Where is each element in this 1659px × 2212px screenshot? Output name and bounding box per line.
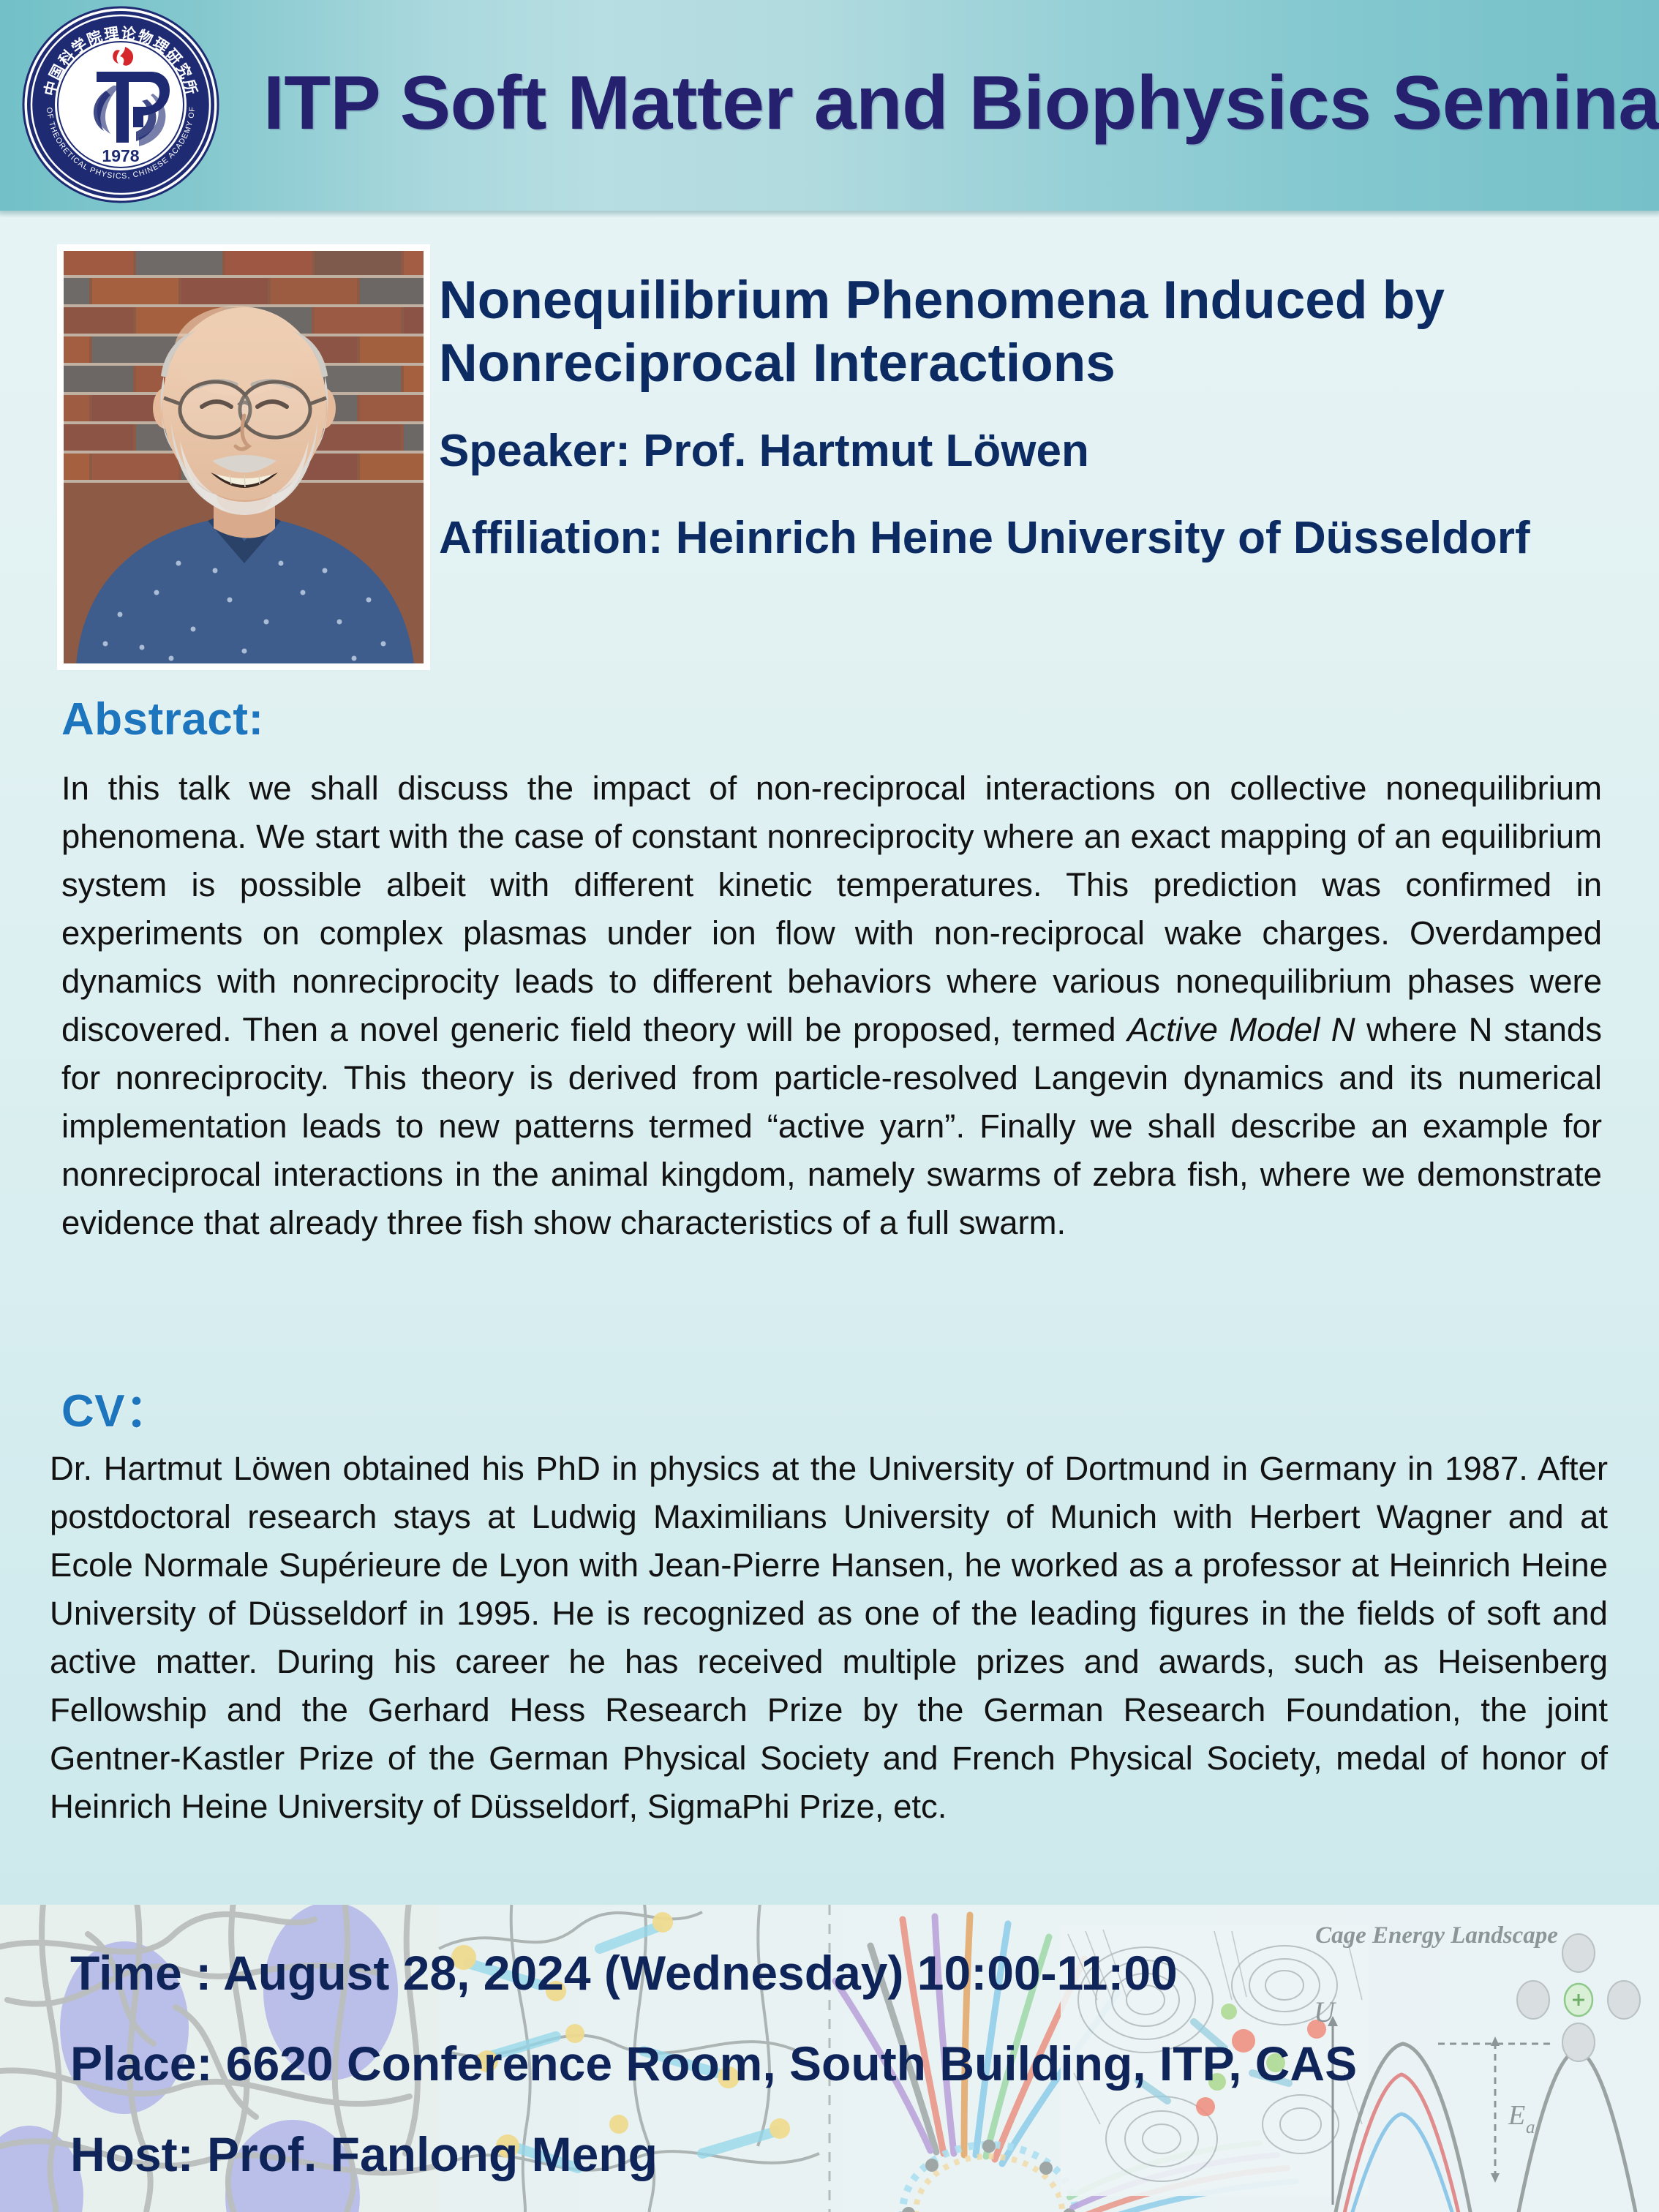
abstract-emphasis: Active Model N xyxy=(1127,1011,1355,1048)
poster-footer: Cage Energy Landscape U E a xyxy=(0,1905,1659,2212)
abstract-text-part1: In this talk we shall discuss the impact… xyxy=(61,770,1602,1048)
cage-energy-landscape-label: Cage Energy Landscape xyxy=(1315,1922,1558,1949)
time-line: Time : August 28, 2024 (Wednesday) 10:00… xyxy=(70,1949,1533,1997)
abstract-heading: Abstract: xyxy=(61,693,264,745)
speaker-name: Prof. Hartmut Löwen xyxy=(643,426,1089,476)
speaker-label: Speaker: xyxy=(439,426,631,476)
talk-title: Nonequilibrium Phenomena Induced by Nonr… xyxy=(439,269,1609,395)
itp-seal-logo: 中国科学院理论物理研究所 INSTITUTE OF THEORETICAL PH… xyxy=(20,4,221,205)
talk-info-block: Nonequilibrium Phenomena Induced by Nonr… xyxy=(439,269,1609,565)
affiliation-line: Affiliation: Heinrich Heine University o… xyxy=(439,511,1609,565)
host-line: Host: Prof. Fanlong Meng xyxy=(70,2130,1533,2178)
seminar-poster: 中国科学院理论物理研究所 INSTITUTE OF THEORETICAL PH… xyxy=(0,0,1659,2212)
speaker-photo xyxy=(61,249,426,666)
affiliation-name: Heinrich Heine University of Düsseldorf xyxy=(676,513,1530,563)
svg-text:1978: 1978 xyxy=(102,146,139,165)
abstract-text: In this talk we shall discuss the impact… xyxy=(61,764,1602,1247)
footer-details: Time : August 28, 2024 (Wednesday) 10:00… xyxy=(70,1949,1533,2212)
page-title: ITP Soft Matter and Biophysics Seminar xyxy=(263,60,1624,147)
affiliation-label: Affiliation: xyxy=(439,513,663,563)
place-line: Place: 6620 Conference Room, South Build… xyxy=(70,2039,1533,2088)
cv-heading: CV： xyxy=(61,1374,171,1440)
speaker-line: Speaker: Prof. Hartmut Löwen xyxy=(439,424,1609,478)
cv-text: Dr. Hartmut Löwen obtained his PhD in ph… xyxy=(50,1445,1608,1831)
header-underline xyxy=(0,211,1659,218)
